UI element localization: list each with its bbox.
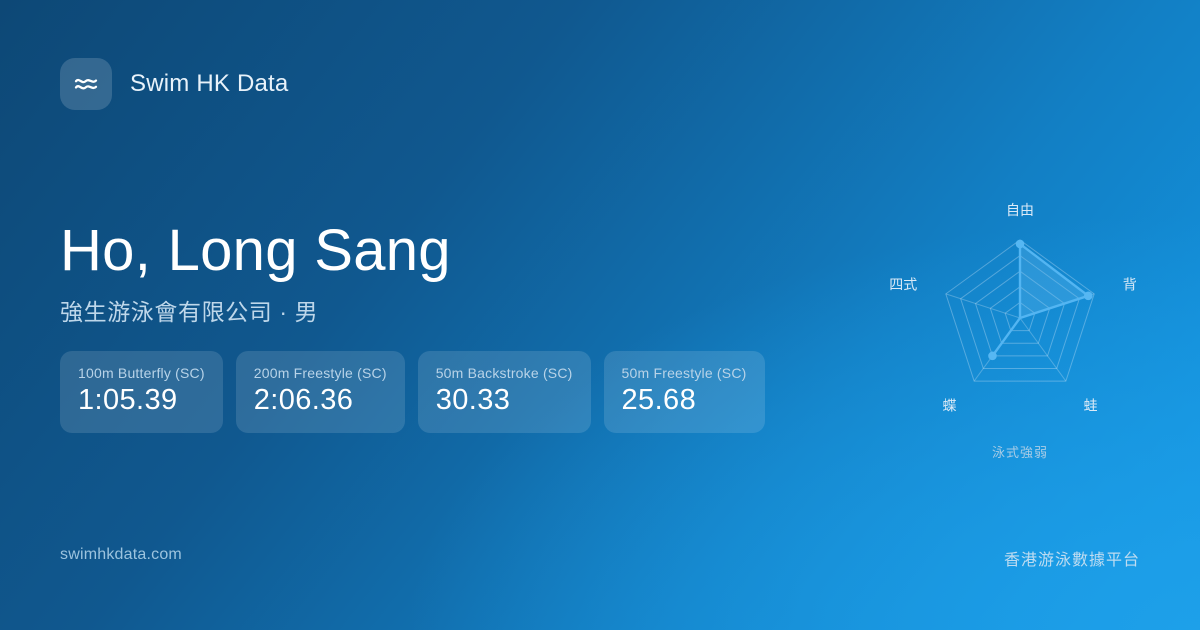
stroke-strength-radar-chart: 自由背蛙蝶四式 xyxy=(870,170,1170,470)
page-title: Ho, Long Sang xyxy=(60,219,840,284)
stat-card-label: 100m Butterfly (SC) xyxy=(78,365,205,381)
radar-axis-label: 四式 xyxy=(889,278,917,294)
stat-card[interactable]: 100m Butterfly (SC) 1:05.39 xyxy=(60,351,223,433)
radar-data-point xyxy=(1016,240,1025,249)
stat-card-label: 200m Freestyle (SC) xyxy=(254,365,387,381)
radar-axis-label: 自由 xyxy=(1006,203,1034,219)
app-logo xyxy=(60,58,112,110)
stat-card[interactable]: 50m Backstroke (SC) 30.33 xyxy=(418,351,591,433)
footer-site-url: swimhkdata.com xyxy=(60,546,182,564)
radar-series-area xyxy=(992,244,1088,356)
radar-axis-label: 蝶 xyxy=(943,398,957,414)
stat-card[interactable]: 200m Freestyle (SC) 2:06.36 xyxy=(236,351,405,433)
radar-chart-caption: 泳式強弱 xyxy=(870,442,1170,461)
footer-tagline: 香港游泳數據平台 xyxy=(1004,546,1140,570)
stat-card[interactable]: 50m Freestyle (SC) 25.68 xyxy=(604,351,765,433)
radar-axis-label: 背 xyxy=(1123,278,1137,294)
stat-card-value: 1:05.39 xyxy=(78,385,205,417)
radar-data-point xyxy=(988,352,997,361)
stat-card-label: 50m Freestyle (SC) xyxy=(622,365,747,381)
athlete-block: Ho, Long Sang 強生游泳會有限公司 · 男 xyxy=(60,219,840,327)
radar-data-point xyxy=(1084,292,1093,301)
stat-card-value: 30.33 xyxy=(436,385,573,417)
stat-card-label: 50m Backstroke (SC) xyxy=(436,365,573,381)
stat-card-list: 100m Butterfly (SC) 1:05.39 200m Freesty… xyxy=(60,351,765,433)
radar-spoke xyxy=(946,294,1020,318)
radar-axis-labels: 自由背蛙蝶四式 xyxy=(889,203,1136,414)
athlete-meta: 強生游泳會有限公司 · 男 xyxy=(60,293,840,327)
brand-header: Swim HK Data xyxy=(60,58,288,110)
stat-card-value: 2:06.36 xyxy=(254,385,387,417)
radar-spoke xyxy=(1020,318,1066,381)
radar-axis-label: 蛙 xyxy=(1084,398,1098,414)
wave-approx-icon xyxy=(72,70,100,98)
brand-name: Swim HK Data xyxy=(130,70,288,98)
share-card: Swim HK Data Ho, Long Sang 強生游泳會有限公司 · 男… xyxy=(0,0,1200,630)
stat-card-value: 25.68 xyxy=(622,385,747,417)
